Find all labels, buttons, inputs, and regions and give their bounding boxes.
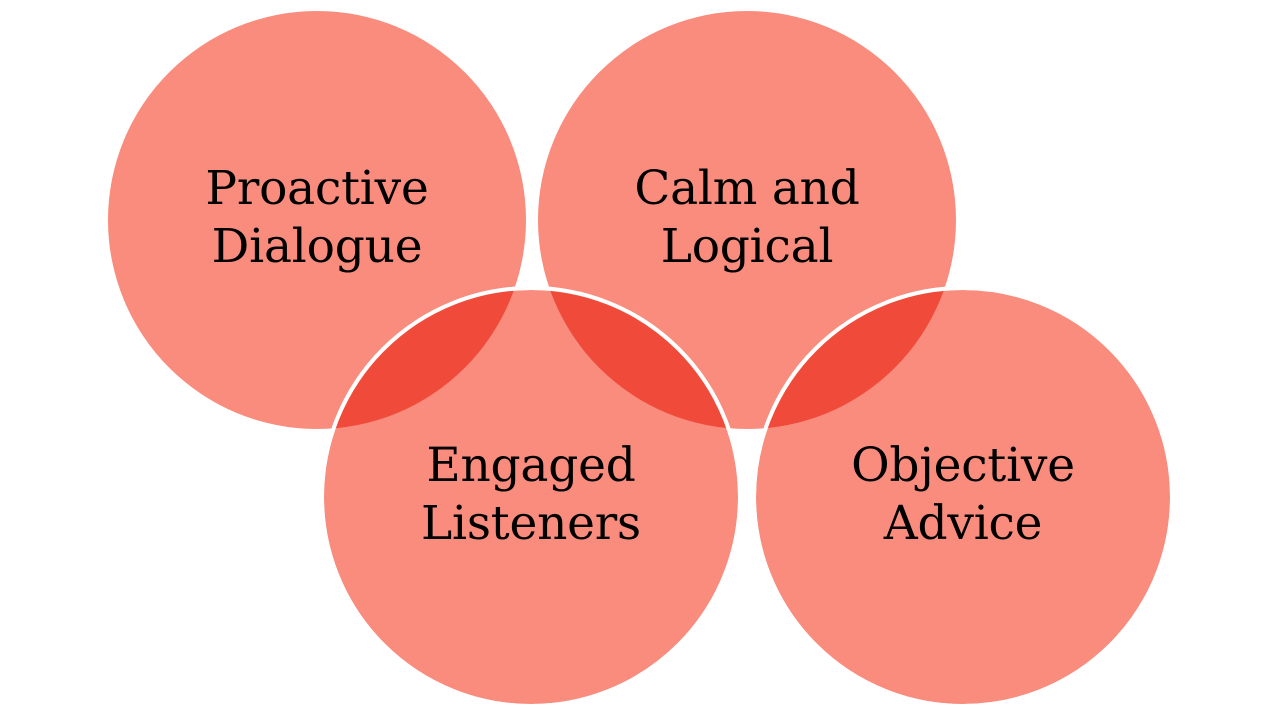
venn-diagram: Proactive Dialogue Calm and Logical Enga… bbox=[0, 0, 1280, 720]
venn-canvas bbox=[0, 0, 1280, 720]
